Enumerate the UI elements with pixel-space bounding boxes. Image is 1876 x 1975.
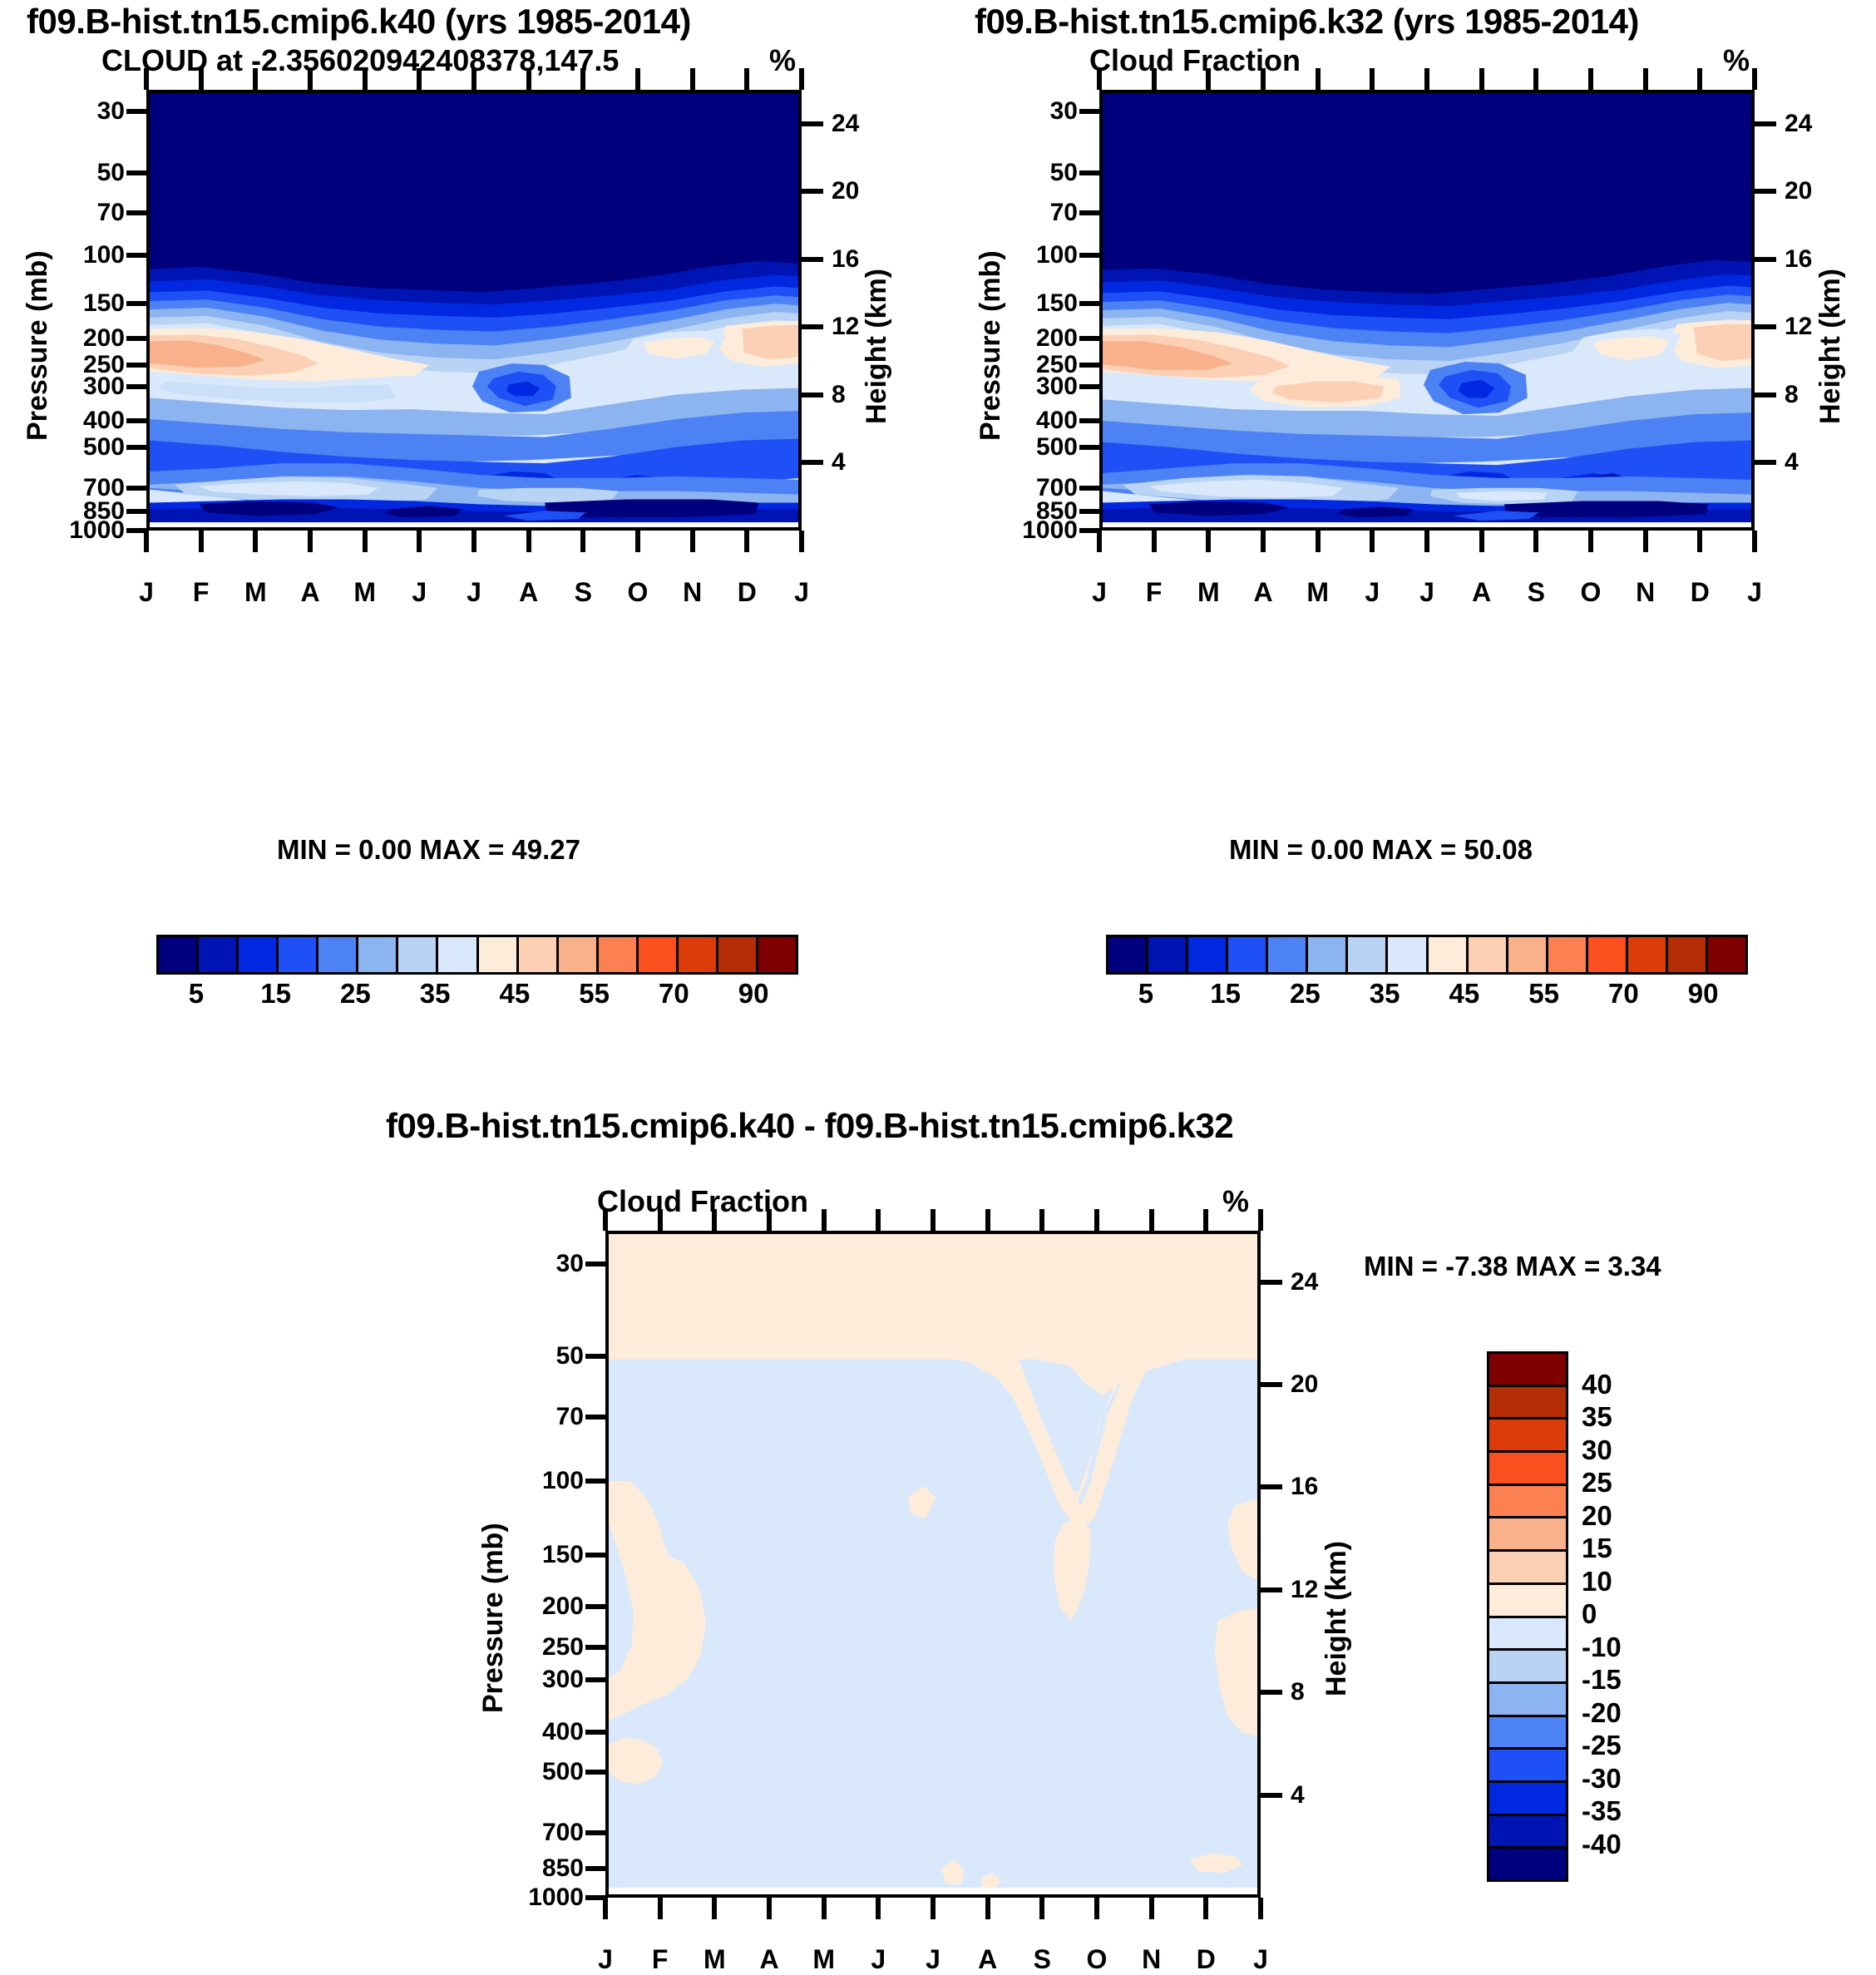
colorbar-cell[interactable] bbox=[159, 937, 199, 972]
axis-tick-label: 20 bbox=[1291, 1370, 1318, 1399]
colorbar-tick-label: 25 bbox=[340, 978, 371, 1010]
axis-tick-label: 24 bbox=[832, 110, 859, 138]
axis-tick bbox=[126, 486, 148, 491]
axis-tick bbox=[799, 68, 804, 90]
axis-tick bbox=[199, 68, 204, 90]
colorbar-tick-label: 55 bbox=[579, 978, 610, 1010]
axis-tick bbox=[1097, 68, 1102, 90]
axis-tick bbox=[635, 68, 640, 90]
axis-tick bbox=[1152, 68, 1157, 90]
left-y2label: Height (km) bbox=[861, 269, 893, 424]
axis-tick bbox=[985, 1898, 990, 1919]
right-panel-units: % bbox=[1723, 43, 1750, 78]
axis-tick-label: 400 bbox=[1036, 407, 1078, 435]
axis-tick bbox=[1079, 210, 1101, 215]
axis-tick-label: 200 bbox=[83, 324, 125, 353]
axis-tick-label: M bbox=[244, 577, 267, 608]
axis-tick-label: 16 bbox=[1785, 245, 1812, 274]
axis-tick bbox=[1094, 1898, 1099, 1919]
left-ylabel: Pressure (mb) bbox=[22, 250, 54, 441]
axis-tick bbox=[526, 531, 531, 552]
axis-tick bbox=[1203, 1209, 1208, 1231]
axis-tick-label: 1000 bbox=[1022, 516, 1078, 545]
axis-tick bbox=[767, 1898, 772, 1919]
axis-tick-label: 8 bbox=[1291, 1678, 1305, 1706]
left-colorbar[interactable] bbox=[156, 935, 798, 975]
axis-tick-label: 70 bbox=[1050, 199, 1078, 227]
axis-tick bbox=[126, 109, 148, 114]
axis-tick bbox=[985, 1209, 990, 1231]
axis-tick-label: 1000 bbox=[528, 1884, 584, 1912]
axis-tick-label: 200 bbox=[542, 1592, 584, 1621]
colorbar-tick-label: -25 bbox=[1582, 1730, 1622, 1761]
axis-tick bbox=[417, 531, 422, 552]
axis-tick-label: 8 bbox=[832, 381, 846, 409]
axis-tick bbox=[1752, 68, 1757, 90]
axis-tick bbox=[1424, 531, 1429, 552]
axis-tick bbox=[1755, 121, 1776, 126]
axis-tick bbox=[580, 68, 585, 90]
colorbar-tick-label: 90 bbox=[738, 978, 769, 1010]
axis-tick bbox=[1424, 68, 1429, 90]
axis-tick bbox=[1079, 445, 1101, 450]
colorbar-tick-label: -20 bbox=[1582, 1697, 1622, 1729]
axis-tick bbox=[1079, 363, 1101, 368]
axis-tick bbox=[1755, 460, 1776, 465]
colorbar-tick-label: 70 bbox=[1608, 978, 1639, 1010]
axis-tick bbox=[1370, 68, 1375, 90]
axis-tick bbox=[1588, 531, 1593, 552]
colorbar-tick-label: -40 bbox=[1582, 1829, 1622, 1860]
axis-tick-label: 100 bbox=[83, 241, 125, 269]
colorbar-cell[interactable] bbox=[1489, 1420, 1566, 1453]
axis-tick-label: 30 bbox=[1050, 97, 1078, 126]
left-panel-subtitle: CLOUD at -2.356020942408378,147.5 bbox=[101, 43, 619, 78]
left-colorbar-labels: 515253545557090 bbox=[156, 978, 798, 1013]
colorbar-tick-label: 5 bbox=[189, 978, 204, 1010]
axis-tick bbox=[1079, 336, 1101, 341]
colorbar-tick-label: 30 bbox=[1582, 1434, 1612, 1466]
colorbar-cell[interactable] bbox=[358, 937, 398, 972]
colorbar-cell[interactable] bbox=[1489, 1849, 1566, 1879]
diff-panel-subtitle: Cloud Fraction bbox=[597, 1184, 808, 1219]
axis-tick bbox=[603, 1209, 608, 1231]
diff-colorbar-labels: 403530252015100-10-15-20-25-30-35-40 bbox=[1582, 1351, 1715, 1877]
axis-tick bbox=[1588, 68, 1593, 90]
axis-tick bbox=[690, 531, 695, 552]
axis-tick bbox=[126, 336, 148, 341]
axis-tick-label: M bbox=[1306, 577, 1329, 608]
axis-tick-label: N bbox=[1142, 1944, 1161, 1975]
colorbar-cell[interactable] bbox=[1548, 937, 1588, 972]
axis-tick-label: 150 bbox=[1036, 289, 1078, 318]
colorbar-cell[interactable] bbox=[1489, 1486, 1566, 1519]
colorbar-cell[interactable] bbox=[1188, 937, 1228, 972]
axis-tick bbox=[603, 1898, 608, 1919]
colorbar-tick-label: 45 bbox=[500, 978, 531, 1010]
axis-tick bbox=[580, 531, 585, 552]
axis-tick-label: S bbox=[1034, 1944, 1051, 1975]
colorbar-cell[interactable] bbox=[199, 937, 239, 972]
axis-tick bbox=[1079, 486, 1101, 491]
axis-tick bbox=[1149, 1898, 1154, 1919]
axis-tick bbox=[1752, 531, 1757, 552]
axis-tick bbox=[1316, 68, 1321, 90]
axis-tick-label: M bbox=[812, 1944, 835, 1975]
colorbar-cell[interactable] bbox=[1108, 937, 1148, 972]
axis-tick-label: J bbox=[1092, 577, 1107, 608]
diff-ylabel: Pressure (mb) bbox=[477, 1523, 510, 1713]
axis-tick bbox=[1152, 531, 1157, 552]
colorbar-cell[interactable] bbox=[279, 937, 318, 972]
colorbar-cell[interactable] bbox=[1228, 937, 1268, 972]
colorbar-cell[interactable] bbox=[1268, 937, 1308, 972]
axis-tick bbox=[1261, 1280, 1282, 1285]
colorbar-cell[interactable] bbox=[559, 937, 599, 972]
axis-tick bbox=[126, 170, 148, 175]
colorbar-cell[interactable] bbox=[1489, 1387, 1566, 1420]
axis-tick bbox=[802, 189, 823, 194]
colorbar-cell[interactable] bbox=[1348, 937, 1388, 972]
axis-tick bbox=[471, 531, 476, 552]
colorbar-tick-label: 35 bbox=[1370, 978, 1400, 1010]
axis-tick bbox=[802, 393, 823, 397]
axis-tick bbox=[1643, 531, 1648, 552]
axis-tick bbox=[1755, 393, 1776, 397]
axis-tick bbox=[744, 531, 749, 552]
colorbar-cell[interactable] bbox=[479, 937, 519, 972]
axis-tick bbox=[658, 1898, 663, 1919]
axis-tick bbox=[1261, 1382, 1282, 1387]
axis-tick bbox=[1258, 1209, 1263, 1231]
axis-tick bbox=[1643, 68, 1648, 90]
axis-tick bbox=[1755, 189, 1776, 194]
axis-tick bbox=[585, 1604, 607, 1609]
axis-tick bbox=[585, 1479, 607, 1484]
colorbar-cell[interactable] bbox=[1708, 937, 1745, 972]
axis-tick-label: J bbox=[1365, 577, 1380, 608]
axis-tick bbox=[1206, 68, 1211, 90]
axis-tick-label: A bbox=[1253, 577, 1272, 608]
axis-tick-label: J bbox=[1253, 1944, 1268, 1975]
axis-tick-label: S bbox=[575, 577, 592, 608]
colorbar-tick-label: -10 bbox=[1582, 1632, 1622, 1663]
axis-tick-label: O bbox=[628, 577, 649, 608]
colorbar-cell[interactable] bbox=[1148, 937, 1188, 972]
colorbar-cell[interactable] bbox=[1469, 937, 1508, 972]
axis-tick-label: 700 bbox=[542, 1819, 584, 1847]
colorbar-tick-label: 55 bbox=[1528, 978, 1559, 1010]
axis-tick bbox=[126, 363, 148, 368]
colorbar-tick-label: 25 bbox=[1290, 978, 1321, 1010]
colorbar-cell[interactable] bbox=[1489, 1354, 1566, 1387]
colorbar-cell[interactable] bbox=[1429, 937, 1469, 972]
axis-tick-label: O bbox=[1581, 577, 1602, 608]
axis-tick bbox=[712, 1209, 717, 1231]
colorbar-tick-label: 10 bbox=[1582, 1566, 1612, 1597]
colorbar-tick-label: 0 bbox=[1582, 1598, 1597, 1630]
axis-tick-label: O bbox=[1087, 1944, 1108, 1975]
axis-tick bbox=[526, 68, 531, 90]
axis-tick-label: 12 bbox=[1785, 313, 1812, 341]
axis-tick-label: 250 bbox=[542, 1633, 584, 1661]
left-panel-units: % bbox=[769, 43, 796, 78]
axis-tick bbox=[126, 210, 148, 215]
axis-tick bbox=[1097, 531, 1102, 552]
axis-tick-label: J bbox=[467, 577, 481, 608]
axis-tick bbox=[126, 253, 148, 258]
right-plot-area[interactable] bbox=[1099, 90, 1755, 531]
axis-tick bbox=[126, 509, 148, 514]
axis-tick bbox=[1316, 531, 1321, 552]
axis-tick-label: J bbox=[926, 1944, 940, 1975]
axis-tick bbox=[1697, 68, 1702, 90]
axis-tick bbox=[799, 531, 804, 552]
colorbar-cell[interactable] bbox=[1668, 937, 1708, 972]
axis-tick bbox=[126, 301, 148, 306]
axis-tick bbox=[1094, 1209, 1099, 1231]
colorbar-cell[interactable] bbox=[1489, 1518, 1566, 1552]
axis-tick bbox=[876, 1898, 881, 1919]
axis-tick bbox=[1206, 531, 1211, 552]
axis-tick bbox=[199, 531, 204, 552]
axis-tick-label: J bbox=[1747, 577, 1762, 608]
right-panel-title: f09.B-hist.tn15.cmip6.k32 (yrs 1985-2014… bbox=[975, 2, 1639, 42]
axis-tick bbox=[1079, 384, 1101, 389]
axis-tick bbox=[1039, 1898, 1044, 1919]
axis-tick bbox=[253, 68, 258, 90]
colorbar-tick-label: 45 bbox=[1449, 978, 1480, 1010]
axis-tick bbox=[690, 68, 695, 90]
axis-tick-label: A bbox=[759, 1944, 778, 1975]
axis-tick-label: 4 bbox=[832, 448, 846, 476]
axis-tick bbox=[1755, 324, 1776, 329]
colorbar-tick-label: -15 bbox=[1582, 1664, 1622, 1696]
axis-tick-label: 300 bbox=[542, 1666, 584, 1694]
axis-tick-label: 4 bbox=[1785, 448, 1799, 476]
axis-tick bbox=[744, 68, 749, 90]
axis-tick-label: 24 bbox=[1291, 1268, 1318, 1296]
axis-tick bbox=[802, 460, 823, 465]
colorbar-cell[interactable] bbox=[1628, 937, 1668, 972]
left-minmax: MIN = 0.00 MAX = 49.27 bbox=[277, 834, 580, 866]
axis-tick bbox=[1261, 1587, 1282, 1592]
axis-tick bbox=[802, 257, 823, 262]
axis-tick bbox=[767, 1209, 772, 1231]
axis-tick-label: 16 bbox=[832, 245, 859, 274]
colorbar-tick-label: 40 bbox=[1582, 1369, 1612, 1400]
colorbar-cell[interactable] bbox=[318, 937, 358, 972]
diff-minmax: MIN = -7.38 MAX = 3.34 bbox=[1364, 1251, 1661, 1282]
axis-tick bbox=[931, 1898, 936, 1919]
colorbar-tick-label: 15 bbox=[1582, 1533, 1612, 1564]
axis-tick bbox=[1079, 509, 1101, 514]
axis-tick bbox=[876, 1209, 881, 1231]
axis-tick-label: F bbox=[652, 1944, 669, 1975]
axis-tick-label: 4 bbox=[1291, 1781, 1305, 1810]
axis-tick bbox=[585, 1262, 607, 1266]
axis-tick-label: 50 bbox=[556, 1342, 584, 1370]
axis-tick bbox=[1079, 301, 1101, 306]
colorbar-tick-label: 35 bbox=[1582, 1401, 1612, 1433]
axis-tick-label: S bbox=[1528, 577, 1545, 608]
axis-tick bbox=[1533, 68, 1538, 90]
colorbar-cell[interactable] bbox=[1388, 937, 1428, 972]
colorbar-cell[interactable] bbox=[718, 937, 758, 972]
axis-tick-label: 150 bbox=[542, 1541, 584, 1569]
axis-tick-label: M bbox=[703, 1944, 726, 1975]
colorbar-cell[interactable] bbox=[758, 937, 796, 972]
axis-tick bbox=[585, 1866, 607, 1871]
right-ylabel: Pressure (mb) bbox=[975, 250, 1007, 441]
colorbar-cell[interactable] bbox=[438, 937, 478, 972]
colorbar-cell[interactable] bbox=[1489, 1783, 1566, 1816]
axis-tick-label: M bbox=[353, 577, 376, 608]
right-minmax: MIN = 0.00 MAX = 50.08 bbox=[1229, 834, 1533, 866]
diff-plot-area[interactable] bbox=[605, 1231, 1261, 1898]
axis-tick-label: 500 bbox=[1036, 433, 1078, 462]
axis-tick-label: 12 bbox=[1291, 1576, 1318, 1604]
axis-tick-label: D bbox=[1691, 577, 1710, 608]
axis-tick-label: 50 bbox=[97, 159, 125, 187]
axis-tick bbox=[585, 1645, 607, 1650]
axis-tick bbox=[1261, 531, 1266, 552]
colorbar-cell[interactable] bbox=[679, 937, 718, 972]
axis-tick-label: 500 bbox=[542, 1758, 584, 1786]
colorbar-tick-label: 5 bbox=[1138, 978, 1153, 1010]
colorbar-cell[interactable] bbox=[1489, 1750, 1566, 1783]
axis-tick bbox=[1479, 68, 1484, 90]
axis-tick-label: 850 bbox=[542, 1854, 584, 1883]
colorbar-cell[interactable] bbox=[519, 937, 559, 972]
axis-tick-label: 1000 bbox=[69, 516, 125, 545]
colorbar-tick-label: 90 bbox=[1688, 978, 1719, 1010]
axis-tick bbox=[1261, 68, 1266, 90]
axis-tick-label: 12 bbox=[832, 313, 859, 341]
colorbar-tick-label: -35 bbox=[1582, 1795, 1622, 1827]
colorbar-cell[interactable] bbox=[639, 937, 679, 972]
right-colorbar-labels: 515253545557090 bbox=[1106, 978, 1748, 1013]
axis-tick-label: 400 bbox=[83, 407, 125, 435]
colorbar-cell[interactable] bbox=[398, 937, 438, 972]
colorbar-cell[interactable] bbox=[1489, 1618, 1566, 1652]
colorbar-cell[interactable] bbox=[1489, 1453, 1566, 1486]
axis-tick bbox=[1697, 531, 1702, 552]
axis-tick bbox=[802, 121, 823, 126]
axis-tick bbox=[308, 68, 313, 90]
axis-tick bbox=[1203, 1898, 1208, 1919]
axis-tick-label: F bbox=[193, 577, 210, 608]
left-plot-area[interactable] bbox=[146, 90, 802, 531]
right-y2label: Height (km) bbox=[1814, 269, 1847, 424]
axis-tick bbox=[1079, 170, 1101, 175]
right-colorbar[interactable] bbox=[1106, 935, 1748, 975]
colorbar-cell[interactable] bbox=[1489, 1684, 1566, 1717]
axis-tick-label: 150 bbox=[83, 289, 125, 318]
axis-tick-label: A bbox=[519, 577, 538, 608]
axis-tick-label: 16 bbox=[1291, 1473, 1318, 1501]
axis-tick bbox=[1149, 1209, 1154, 1231]
axis-tick-label: N bbox=[683, 577, 702, 608]
axis-tick bbox=[1079, 109, 1101, 114]
colorbar-tick-label: 15 bbox=[260, 978, 291, 1010]
axis-tick bbox=[658, 1209, 663, 1231]
axis-tick-label: J bbox=[598, 1944, 613, 1975]
colorbar-tick-label: 70 bbox=[659, 978, 689, 1010]
axis-tick-label: J bbox=[794, 577, 809, 608]
colorbar-cell[interactable] bbox=[1489, 1717, 1566, 1750]
colorbar-cell[interactable] bbox=[1588, 937, 1628, 972]
axis-tick bbox=[712, 1898, 717, 1919]
diff-colorbar[interactable] bbox=[1487, 1351, 1568, 1882]
axis-tick-label: 30 bbox=[97, 97, 125, 126]
diff-y2label: Height (km) bbox=[1321, 1541, 1353, 1696]
axis-tick-label: J bbox=[1419, 577, 1434, 608]
axis-tick bbox=[126, 418, 148, 423]
axis-tick bbox=[1533, 531, 1538, 552]
axis-tick bbox=[1479, 531, 1484, 552]
figure-canvas: f09.B-hist.tn15.cmip6.k40 (yrs 1985-2014… bbox=[0, 0, 1876, 1961]
colorbar-cell[interactable] bbox=[1489, 1585, 1566, 1618]
axis-tick-label: F bbox=[1146, 577, 1163, 608]
left-panel-title: f09.B-hist.tn15.cmip6.k40 (yrs 1985-2014… bbox=[27, 2, 691, 42]
colorbar-cell[interactable] bbox=[239, 937, 279, 972]
right-panel-subtitle: Cloud Fraction bbox=[1089, 43, 1301, 78]
axis-tick bbox=[1261, 1793, 1282, 1798]
axis-tick-label: 70 bbox=[97, 199, 125, 227]
axis-tick-label: 8 bbox=[1785, 381, 1799, 409]
axis-tick bbox=[585, 1553, 607, 1558]
axis-tick-label: 70 bbox=[556, 1403, 584, 1431]
colorbar-tick-label: 15 bbox=[1210, 978, 1241, 1010]
axis-tick bbox=[802, 324, 823, 329]
axis-tick bbox=[585, 1415, 607, 1420]
colorbar-cell[interactable] bbox=[1508, 937, 1548, 972]
axis-tick-label: M bbox=[1197, 577, 1220, 608]
colorbar-cell[interactable] bbox=[599, 937, 639, 972]
axis-tick-label: J bbox=[412, 577, 427, 608]
axis-tick bbox=[1039, 1209, 1044, 1231]
colorbar-cell[interactable] bbox=[1489, 1552, 1566, 1585]
axis-tick bbox=[363, 531, 368, 552]
axis-tick-label: J bbox=[871, 1944, 886, 1975]
axis-tick-label: A bbox=[1472, 577, 1491, 608]
axis-tick bbox=[1079, 253, 1101, 258]
axis-tick bbox=[144, 68, 149, 90]
axis-tick-label: A bbox=[300, 577, 319, 608]
colorbar-cell[interactable] bbox=[1489, 1816, 1566, 1849]
axis-tick bbox=[585, 1354, 607, 1359]
colorbar-tick-label: 20 bbox=[1582, 1500, 1612, 1532]
diff-panel-title: f09.B-hist.tn15.cmip6.k40 - f09.B-hist.t… bbox=[386, 1106, 1233, 1146]
axis-tick-label: 20 bbox=[832, 177, 859, 205]
axis-tick-label: 500 bbox=[83, 433, 125, 462]
axis-tick bbox=[253, 531, 258, 552]
colorbar-cell[interactable] bbox=[1489, 1651, 1566, 1684]
axis-tick bbox=[1261, 1690, 1282, 1695]
axis-tick bbox=[363, 68, 368, 90]
axis-tick bbox=[144, 531, 149, 552]
colorbar-tick-label: 35 bbox=[420, 978, 451, 1010]
axis-tick bbox=[585, 1730, 607, 1735]
colorbar-cell[interactable] bbox=[1308, 937, 1348, 972]
axis-tick-label: 50 bbox=[1050, 159, 1078, 187]
axis-tick-label: 300 bbox=[1036, 373, 1078, 401]
axis-tick bbox=[126, 384, 148, 389]
colorbar-tick-label: -30 bbox=[1582, 1763, 1622, 1795]
axis-tick-label: 400 bbox=[542, 1718, 584, 1746]
axis-tick bbox=[585, 1770, 607, 1775]
